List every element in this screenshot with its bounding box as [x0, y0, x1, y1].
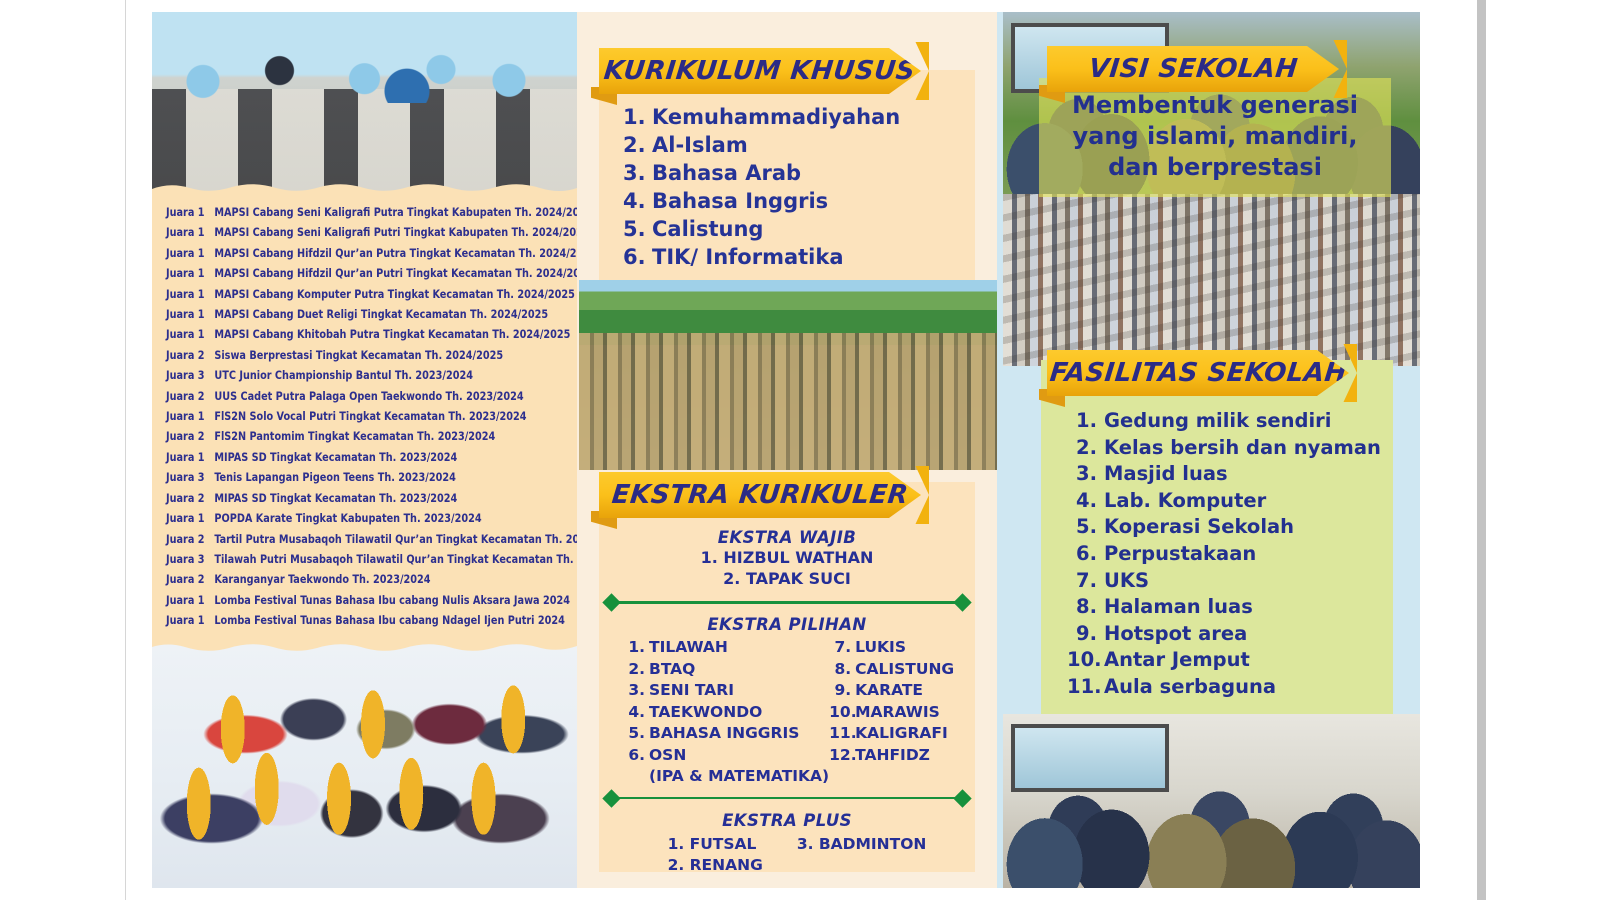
fasilitas-item: 2. Kelas bersih dan nyaman — [1067, 435, 1381, 462]
item-label: OSN — [649, 745, 686, 767]
achievement-row: Juara 1 MAPSI Cabang Duet Religi Tingkat… — [166, 304, 538, 324]
achievement-text: FlS2N Pantomim Tingkat Kecamatan Th. 202… — [214, 426, 495, 446]
item-label: KALIGRAFI — [855, 723, 948, 745]
ekstra-plus-item: 3. BADMINTON — [797, 834, 927, 856]
item-number: 2. — [1067, 435, 1097, 462]
diamond-icon — [953, 593, 971, 611]
item-label: Kemuhammadiyahan — [652, 104, 900, 131]
achievement-text: Karanganyar Taekwondo Th. 2023/2024 — [214, 569, 430, 589]
diamond-icon — [602, 789, 620, 807]
item-number: 4. — [623, 188, 645, 215]
item-number: 1. — [623, 637, 645, 659]
achievement-row: Juara 2 Tartil Putra Musabaqoh Tilawatil… — [166, 529, 538, 549]
item-number: 5. — [1067, 514, 1097, 541]
item-number: 4. — [623, 702, 645, 724]
achievement-row: Juara 1 Lomba Festival Tunas Bahasa Ibu … — [166, 590, 538, 610]
ekstra-pilihan-item: 3. SENI TARI — [623, 680, 829, 702]
item-label: TAEKWONDO — [649, 702, 762, 724]
item-number: 2. — [723, 569, 740, 588]
fasilitas-item: 10. Antar Jemput — [1067, 647, 1381, 674]
banner-visi-sekolah: VISI SEKOLAH — [1039, 46, 1339, 92]
kurikulum-item: 5. Calistung — [623, 216, 900, 243]
ekstra-pilihan-item: 1. TILAWAH — [623, 637, 829, 659]
achievement-rank: Juara 2 — [166, 529, 209, 549]
ekstra-wajib-item: 2. TAPAK SUCI — [599, 568, 975, 589]
divider-bar — [613, 797, 961, 800]
achievement-text: MAPSI Cabang Komputer Putra Tingkat Keca… — [214, 284, 575, 304]
achievement-row: Juara 1 MAPSI Cabang Khitobah Putra Ting… — [166, 324, 538, 344]
item-number: 4. — [1067, 488, 1097, 515]
item-number: 11. — [1067, 674, 1097, 701]
banner-kurikulum-khusus: KURIKULUM KHUSUS — [591, 48, 921, 94]
diamond-icon — [953, 789, 971, 807]
item-number: 1. — [668, 834, 686, 856]
ribbon-body: EKSTRA KURIKULER — [599, 472, 921, 518]
achievement-text: MAPSI Cabang Hifdzil Qur’an Putri Tingka… — [214, 263, 577, 283]
torn-edge-icon — [152, 180, 577, 195]
ekstra-pilihan-item: 5. BAHASA INGGRIS — [623, 723, 829, 745]
achievement-text: UTC Junior Championship Bantul Th. 2023/… — [214, 365, 473, 385]
achievement-row: Juara 2 Siswa Berprestasi Tingkat Kecama… — [166, 345, 538, 365]
item-number: 1. — [623, 104, 645, 131]
item-label: MARAWIS — [855, 702, 940, 724]
achievement-row: Juara 3 Tilawah Putri Musabaqoh Tilawati… — [166, 549, 538, 569]
ekstra-pilihan-note: (IPA & MATEMATIKA) — [623, 766, 829, 788]
item-label: Gedung milik sendiri — [1104, 408, 1332, 435]
ribbon-body: VISI SEKOLAH — [1047, 46, 1339, 92]
achievement-text: UUS Cadet Putra Palaga Open Taekwondo Th… — [214, 386, 523, 406]
achievement-row: Juara 1 Lomba Festival Tunas Bahasa Ibu … — [166, 610, 538, 630]
item-label: Perpustakaan — [1104, 541, 1256, 568]
achievement-text: Tartil Putra Musabaqoh Tilawatil Qur’an … — [214, 529, 577, 549]
achievement-row: Juara 1 MAPSI Cabang Seni Kaligrafi Putr… — [166, 202, 538, 222]
ekstra-pilihan-left: 1. TILAWAH 2. BTAQ 3. SENI TARI 4. — [623, 637, 829, 788]
item-number: 7. — [1067, 568, 1097, 595]
item-number: 6. — [623, 745, 645, 767]
item-label: Hotspot area — [1104, 621, 1247, 648]
item-number: 9. — [829, 680, 851, 702]
item-label: Bahasa Inggris — [652, 188, 828, 215]
ekstra-plus-item: 2. RENANG — [668, 855, 763, 877]
item-number: 11. — [829, 723, 851, 745]
ekstra-plus-left: 1. FUTSAL 2. RENANG — [668, 834, 763, 877]
achievement-row: Juara 3 UTC Junior Championship Bantul T… — [166, 365, 538, 385]
achievement-rank: Juara 2 — [166, 426, 209, 446]
fasilitas-item: 3. Masjid luas — [1067, 461, 1381, 488]
school-brochure: Juara 1 MAPSI Cabang Seni Kaligrafi Putr… — [152, 12, 1420, 888]
achievement-rank: Juara 3 — [166, 365, 209, 385]
item-number: 12. — [829, 745, 851, 767]
item-label: BTAQ — [649, 659, 695, 681]
item-number: 1. — [1067, 408, 1097, 435]
fasilitas-list: 1. Gedung milik sendiri 2. Kelas bersih … — [1067, 408, 1381, 701]
achievement-row: Juara 1 MAPSI Cabang Komputer Putra Ting… — [166, 284, 538, 304]
fasilitas-item: 9. Hotspot area — [1067, 621, 1381, 648]
computer-lab-photo — [152, 12, 577, 195]
achievement-row: Juara 1 MIPAS SD Tingkat Kecamatan Th. 2… — [166, 447, 538, 467]
achievement-text: MIPAS SD Tingkat Kecamatan Th. 2023/2024 — [214, 488, 457, 508]
achievement-row: Juara 1 MAPSI Cabang Hifdzil Qur’an Putr… — [166, 263, 538, 283]
school-assembly-photo — [579, 280, 997, 470]
fasilitas-item: 11. Aula serbaguna — [1067, 674, 1381, 701]
item-number: 3. — [623, 680, 645, 702]
ribbon-body: KURIKULUM KHUSUS — [599, 48, 921, 94]
item-label: Koperasi Sekolah — [1104, 514, 1294, 541]
item-number: 9. — [1067, 621, 1097, 648]
achievement-text: Tenis Lapangan Pigeon Teens Th. 2023/202… — [214, 467, 455, 487]
item-label: Halaman luas — [1104, 594, 1253, 621]
achievement-rank: Juara 1 — [166, 610, 209, 630]
ekstra-pilihan-item: 10. MARAWIS — [829, 702, 954, 724]
item-label: TAPAK SUCI — [746, 569, 851, 588]
item-label: Antar Jemput — [1104, 647, 1250, 674]
kurikulum-item: 6. TIK/ Informatika — [623, 244, 900, 271]
item-label: BADMINTON — [819, 834, 927, 856]
fasilitas-item: 4. Lab. Komputer — [1067, 488, 1381, 515]
item-label: CALISTUNG — [855, 659, 954, 681]
achievement-text: MAPSI Cabang Duet Religi Tingkat Kecamat… — [214, 304, 548, 324]
achievement-text: MIPAS SD Tingkat Kecamatan Th. 2023/2024 — [214, 447, 457, 467]
achievement-rank: Juara 1 — [166, 406, 209, 426]
ekstra-pilihan-item: 12. TAHFIDZ — [829, 745, 954, 767]
item-label: Calistung — [652, 216, 763, 243]
left-column: Juara 1 MAPSI Cabang Seni Kaligrafi Putr… — [152, 12, 577, 888]
item-label: LUKIS — [855, 637, 906, 659]
item-label: Al-Islam — [652, 132, 748, 159]
achievement-row: Juara 1 MAPSI Cabang Hifdzil Qur’an Putr… — [166, 243, 538, 263]
item-number: 2. — [668, 855, 686, 877]
item-label: TILAWAH — [649, 637, 728, 659]
item-number: 1. — [701, 548, 718, 567]
item-label: TIK/ Informatika — [652, 244, 844, 271]
banner-fasilitas-sekolah: FASILITAS SEKOLAH — [1039, 350, 1349, 396]
ekstra-wajib-list: 1. HIZBUL WATHAN 2. TAPAK SUCI — [599, 547, 975, 589]
fasilitas-item: 8. Halaman luas — [1067, 594, 1381, 621]
banner-label: KURIKULUM KHUSUS — [603, 56, 917, 86]
achievement-text: MAPSI Cabang Khitobah Putra Tingkat Keca… — [214, 324, 570, 344]
fasilitas-item: 5. Koperasi Sekolah — [1067, 514, 1381, 541]
ekstra-plus-right: 3. BADMINTON — [797, 834, 927, 877]
ekstra-plus-item: 1. FUTSAL — [668, 834, 763, 856]
achievement-list: Juara 1 MAPSI Cabang Seni Kaligrafi Putr… — [166, 202, 566, 631]
ekstra-pilihan-item: 4. TAEKWONDO — [623, 702, 829, 724]
ekstra-wajib-item: 1. HIZBUL WATHAN — [599, 547, 975, 568]
achievement-text: Tilawah Putri Musabaqoh Tilawatil Qur’an… — [214, 549, 577, 569]
achievement-row: Juara 2 Karanganyar Taekwondo Th. 2023/2… — [166, 569, 538, 589]
kurikulum-item: 4. Bahasa Inggris — [623, 188, 900, 215]
achievement-rank: Juara 3 — [166, 467, 209, 487]
section-divider — [599, 596, 975, 608]
fasilitas-item: 1. Gedung milik sendiri — [1067, 408, 1381, 435]
ekstra-pilihan-item: 8. CALISTUNG — [829, 659, 954, 681]
achievement-rank: Juara 1 — [166, 590, 209, 610]
banner-label: VISI SEKOLAH — [1087, 54, 1299, 84]
achievement-text: Lomba Festival Tunas Bahasa Ibu cabang N… — [214, 590, 570, 610]
achievement-rank: Juara 2 — [166, 488, 209, 508]
item-number: 5. — [623, 723, 645, 745]
achievement-rank: Juara 2 — [166, 386, 209, 406]
achievement-rank: Juara 1 — [166, 243, 209, 263]
item-number: 7. — [829, 637, 851, 659]
achievement-text: Siswa Berprestasi Tingkat Kecamatan Th. … — [214, 345, 503, 365]
page-root: Juara 1 MAPSI Cabang Seni Kaligrafi Putr… — [0, 0, 1600, 900]
banner-label: FASILITAS SEKOLAH — [1048, 358, 1348, 388]
item-number: 3. — [623, 160, 645, 187]
item-number: 8. — [829, 659, 851, 681]
achievement-rank: Juara 1 — [166, 508, 209, 528]
congregation-prayer-photo — [1003, 194, 1420, 366]
achievement-rank: Juara 1 — [166, 324, 209, 344]
ekstra-pilihan-title: EKSTRA PILIHAN — [599, 615, 975, 634]
item-label: TAHFIDZ — [855, 745, 930, 767]
achievement-text: Lomba Festival Tunas Bahasa Ibu cabang N… — [214, 610, 565, 630]
kurikulum-item: 2. Al-Islam — [623, 132, 900, 159]
achievement-text: POPDA Karate Tingkat Kabupaten Th. 2023/… — [214, 508, 481, 528]
fasilitas-item: 6. Perpustakaan — [1067, 541, 1381, 568]
item-number: 2. — [623, 659, 645, 681]
banner-ekstra-kurikuler: EKSTRA KURIKULER — [591, 472, 921, 518]
ekstra-plus-columns: 1. FUTSAL 2. RENANG 3. BADMINTON — [599, 834, 975, 877]
ribbon-body: FASILITAS SEKOLAH — [1047, 350, 1349, 396]
achievement-rank: Juara 2 — [166, 345, 209, 365]
achievement-row: Juara 1 FlS2N Solo Vocal Putri Tingkat K… — [166, 406, 538, 426]
ekstra-pilihan-item: 9. KARATE — [829, 680, 954, 702]
item-label: SENI TARI — [649, 680, 734, 702]
banner-label: EKSTRA KURIKULER — [610, 480, 909, 510]
achievement-rank: Juara 1 — [166, 263, 209, 283]
item-number: 10. — [1067, 647, 1097, 674]
achievement-text: MAPSI Cabang Seni Kaligrafi Putri Tingka… — [214, 222, 577, 242]
classroom-photo — [1003, 714, 1420, 888]
achievement-text: FlS2N Solo Vocal Putri Tingkat Kecamatan… — [214, 406, 526, 426]
achievement-rank: Juara 1 — [166, 222, 209, 242]
achievement-text: MAPSI Cabang Seni Kaligrafi Putra Tingka… — [214, 202, 577, 222]
middle-column: KURIKULUM KHUSUS 1. Kemuhammadiyahan 2. … — [577, 12, 997, 888]
item-label: Masjid luas — [1104, 461, 1228, 488]
item-label: RENANG — [690, 855, 763, 877]
achievement-rank: Juara 1 — [166, 447, 209, 467]
ekstra-pilihan-right: 7. LUKIS 8. CALISTUNG 9. KARATE 10. — [829, 637, 954, 788]
item-number: 3. — [797, 834, 815, 856]
achievement-row: Juara 1 POPDA Karate Tingkat Kabupaten T… — [166, 508, 538, 528]
achievement-rank: Juara 1 — [166, 202, 209, 222]
ekstra-wajib-title: EKSTRA WAJIB — [599, 528, 975, 547]
item-number: 3. — [1067, 461, 1097, 488]
item-label: Lab. Komputer — [1104, 488, 1266, 515]
trophies-photo — [152, 640, 577, 888]
item-label: Bahasa Arab — [652, 160, 801, 187]
item-number: 5. — [623, 216, 645, 243]
ekstra-pilihan-item: 2. BTAQ — [623, 659, 829, 681]
fasilitas-item: 7. UKS — [1067, 568, 1381, 595]
achievement-rank: Juara 3 — [166, 549, 209, 569]
item-label: UKS — [1104, 568, 1149, 595]
item-number: 6. — [623, 244, 645, 271]
ekstra-content: EKSTRA WAJIB 1. HIZBUL WATHAN 2. TAPAK S… — [599, 528, 975, 877]
achievement-text: MAPSI Cabang Hifdzil Qur’an Putra Tingka… — [214, 243, 577, 263]
item-label: HIZBUL WATHAN — [723, 548, 873, 567]
achievement-row: Juara 2 UUS Cadet Putra Palaga Open Taek… — [166, 386, 538, 406]
right-column: Membentuk generasi yang islami, mandiri,… — [997, 12, 1420, 888]
item-label: Kelas bersih dan nyaman — [1104, 435, 1381, 462]
item-number: 8. — [1067, 594, 1097, 621]
ekstra-pilihan-item: 11. KALIGRAFI — [829, 723, 954, 745]
achievement-rank: Juara 1 — [166, 304, 209, 324]
kurikulum-item: 3. Bahasa Arab — [623, 160, 900, 187]
item-label: FUTSAL — [690, 834, 757, 856]
torn-edge-icon — [152, 640, 577, 655]
item-label: KARATE — [855, 680, 923, 702]
section-divider — [599, 792, 975, 804]
achievement-rank: Juara 1 — [166, 284, 209, 304]
item-number: 2. — [623, 132, 645, 159]
page-left-divider — [125, 0, 126, 900]
achievement-row: Juara 1 MAPSI Cabang Seni Kaligrafi Putr… — [166, 222, 538, 242]
diamond-icon — [602, 593, 620, 611]
ekstra-pilihan-item: 7. LUKIS — [829, 637, 954, 659]
kurikulum-item: 1. Kemuhammadiyahan — [623, 104, 900, 131]
visi-text: Membentuk generasi yang islami, mandiri,… — [1047, 90, 1383, 183]
achievement-rank: Juara 2 — [166, 569, 209, 589]
achievement-row: Juara 2 FlS2N Pantomim Tingkat Kecamatan… — [166, 426, 538, 446]
achievement-row: Juara 2 MIPAS SD Tingkat Kecamatan Th. 2… — [166, 488, 538, 508]
item-number: 6. — [1067, 541, 1097, 568]
ekstra-pilihan-columns: 1. TILAWAH 2. BTAQ 3. SENI TARI 4. — [599, 637, 975, 788]
vertical-scrollbar[interactable] — [1477, 0, 1486, 900]
achievement-row: Juara 3 Tenis Lapangan Pigeon Teens Th. … — [166, 467, 538, 487]
divider-bar — [613, 601, 961, 604]
item-label: BAHASA INGGRIS — [649, 723, 799, 745]
item-number: 10. — [829, 702, 851, 724]
item-label: Aula serbaguna — [1104, 674, 1276, 701]
kurikulum-list: 1. Kemuhammadiyahan 2. Al-Islam 3. Bahas… — [623, 104, 900, 272]
ekstra-pilihan-item: 6. OSN — [623, 745, 829, 767]
ekstra-plus-title: EKSTRA PLUS — [599, 811, 975, 830]
